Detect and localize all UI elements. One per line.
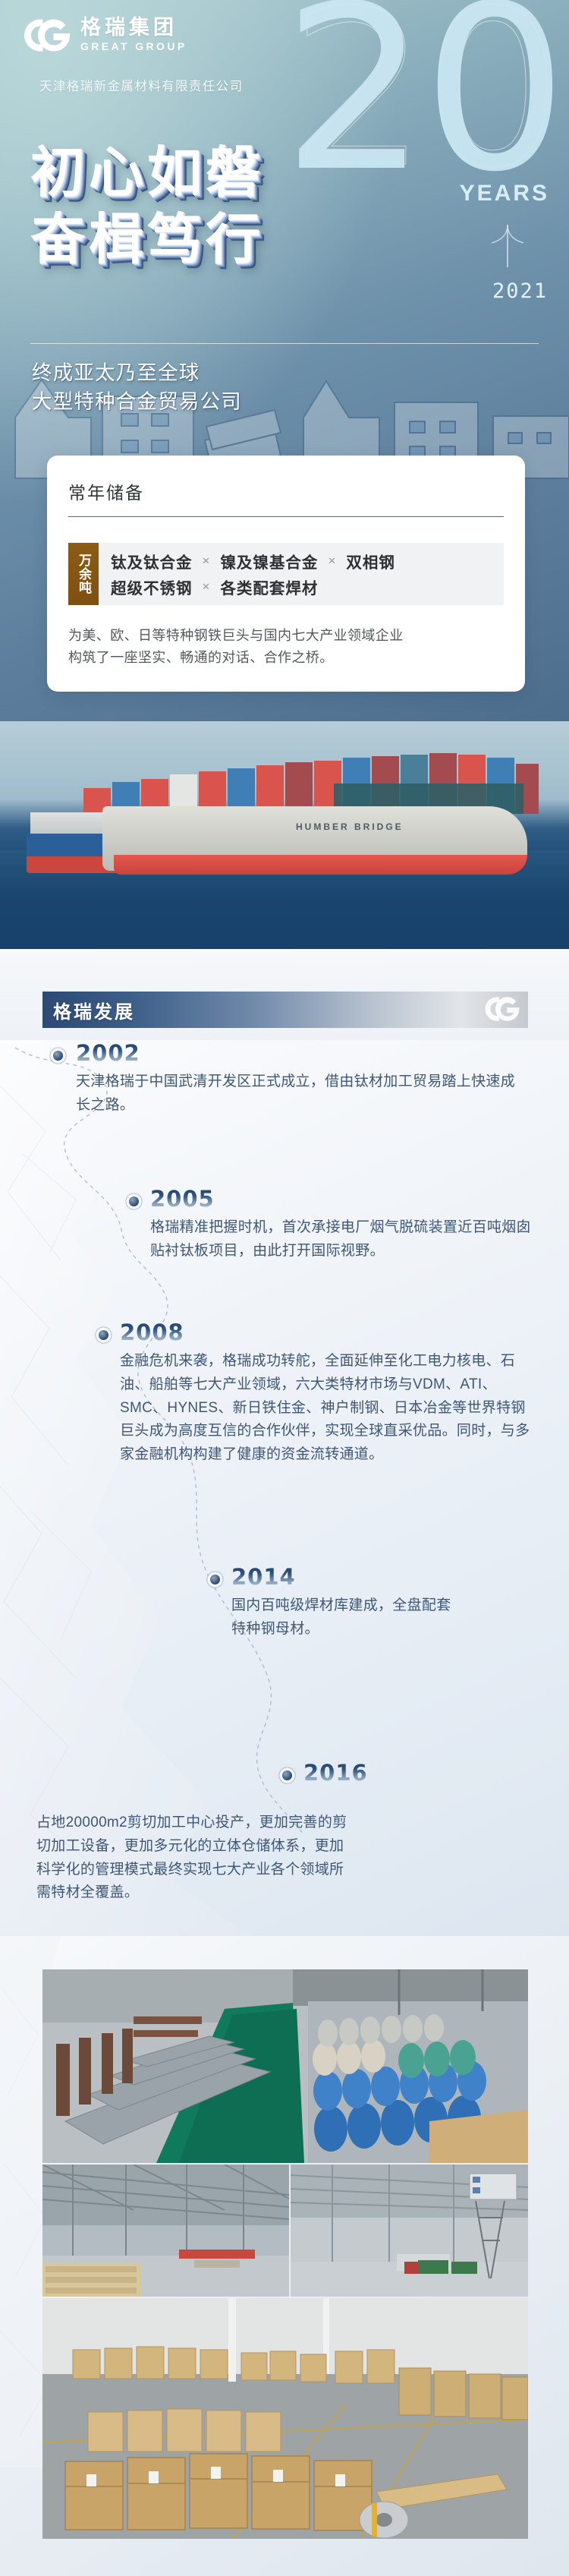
separator-icon: × [328, 553, 336, 569]
timeline-description: 格瑞精准把握时机，首次承接电厂烟气脱硫装置近百吨烟囱贴衬钛板项目，由此打开国际视… [150, 1216, 536, 1263]
reserve-card-title: 常年储备 [68, 478, 504, 516]
section-title-bar: 格瑞发展 [42, 992, 528, 1028]
ship-photo: HUMBER BRIDGE [0, 721, 569, 949]
timeline-year: 2016 [303, 1760, 531, 1786]
company-full-name: 天津格瑞新金属材料有限责任公司 [39, 76, 244, 94]
anniversary-years-label: YEARS [460, 181, 549, 207]
hero-divider [30, 343, 539, 344]
cg-logo-icon [484, 996, 520, 1022]
timeline-dot-icon [282, 1770, 292, 1780]
gallery-photo [42, 2165, 289, 2297]
tugboat-superstructure [30, 812, 102, 835]
anniversary-number: 20 [282, 0, 563, 203]
timeline-item: 2002 天津格瑞于中国武清开发区正式成立，借由钛材加工贸易踏上快速成长之路。 [76, 1040, 531, 1118]
timeline-dot-icon [210, 1575, 220, 1584]
factory-hall-with-machinery-image [291, 2165, 528, 2297]
material-item: 钛及钛合金 [111, 550, 193, 572]
material-item: 超级不锈钢 [111, 575, 193, 598]
timeline-dot-icon [99, 1330, 108, 1340]
reserve-card: 常年储备 万余吨 钛及钛合金 × 镍及镍基合金 × 双相钢 超级不锈钢 [47, 456, 525, 692]
wooden-crates-storage-warehouse-image [42, 2298, 528, 2539]
timeline-description: 金融危机来袭，格瑞成功转舵，全面延伸至化工电力核电、石油、船舶等七大产业领域，六… [120, 1350, 534, 1467]
container-stack-icon [83, 753, 539, 814]
reserve-card-divider [68, 516, 504, 517]
workshop-interior-steel-structure-image [42, 2165, 289, 2297]
separator-icon: × [203, 553, 211, 569]
material-chip-row: 万余吨 钛及钛合金 × 镍及镍基合金 × 双相钢 超级不锈钢 × 各类配套焊材 [68, 543, 504, 605]
separator-icon: × [203, 579, 211, 594]
hero-subtitle-line-2: 大型特种合金贸易公司 [32, 387, 242, 416]
ship-hull-waterline [114, 855, 527, 875]
timeline-year: 2005 [150, 1186, 537, 1212]
warehouse-steel-plates-and-coils-image [42, 1969, 528, 2163]
vessel-name: HUMBER BRIDGE [296, 821, 404, 832]
timeline-description: 占地20000m2剪切加工中心投产，更加完善的剪切加工设备，更加多元化的立体仓储… [36, 1811, 355, 1905]
brand-name-cn: 格瑞集团 [80, 17, 187, 38]
brand-name-en: GREAT GROUP [80, 39, 187, 53]
material-line-2: 超级不锈钢 × 各类配套焊材 [111, 575, 395, 598]
photo-gallery [0, 1936, 569, 2576]
headline-line-2: 奋楫笃行 [30, 207, 264, 274]
hero-headline: 初心如磐 奋楫笃行 [30, 140, 264, 274]
timeline-description: 国内百吨级焊材库建成，全盘配套特种钢母材。 [231, 1594, 459, 1641]
timeline-year: 2014 [231, 1564, 505, 1590]
gallery-photo [42, 1969, 528, 2163]
timeline-year: 2008 [120, 1320, 536, 1345]
material-item: 镍及镍基合金 [220, 550, 318, 572]
anniversary-year: 2021 [492, 279, 548, 303]
timeline-year: 2002 [76, 1040, 531, 1066]
reserve-note-line-2: 构筑了一座坚实、畅通的对话、合作之桥。 [68, 647, 504, 669]
material-item: 各类配套焊材 [220, 575, 318, 598]
reserve-card-note: 为美、欧、日等特种钢铁巨头与国内七大产业领域企业 构筑了一座坚实、畅通的对话、合… [68, 625, 504, 669]
timeline-dot-icon [129, 1197, 139, 1206]
headline-line-1: 初心如磐 [30, 140, 264, 207]
cg-logo-icon [23, 18, 71, 52]
brand-logo: 格瑞集团 GREAT GROUP [23, 17, 187, 54]
timeline-item: 2016 [303, 1760, 531, 1786]
timeline-item: 2014 国内百吨级焊材库建成，全盘配套特种钢母材。 [231, 1564, 505, 1641]
gallery-photo [291, 2165, 528, 2297]
section-header: 格瑞发展 [0, 949, 569, 1040]
gallery-photo [42, 2298, 528, 2539]
material-line-1: 钛及钛合金 × 镍及镍基合金 × 双相钢 [111, 550, 395, 572]
section-title: 格瑞发展 [53, 997, 135, 1023]
timeline-description: 天津格瑞于中国武清开发区正式成立，借由钛材加工贸易踏上快速成长之路。 [76, 1070, 530, 1118]
hero-subtitle-line-1: 终成亚太乃至全球 [32, 358, 242, 387]
material-lines: 钛及钛合金 × 镍及镍基合金 × 双相钢 超级不锈钢 × 各类配套焊材 [99, 543, 395, 605]
tonnage-badge-label: 万余吨 [76, 553, 91, 594]
material-item: 双相钢 [346, 550, 395, 572]
hero-subtitle: 终成亚太乃至全球 大型特种合金贸易公司 [32, 358, 242, 417]
development-section: 格瑞发展 2002 天津格瑞于中国武清开发区正式成立，借由钛材加工贸易踏上快速成… [0, 949, 569, 1936]
timeline-item: 2008 金融危机来袭，格瑞成功转舵，全面延伸至化工电力核电、石油、船舶等七大产… [120, 1320, 536, 1467]
page-root: 20 20 YEARS 2021 格瑞集团 GREAT GROUP 天津格瑞新金… [0, 0, 569, 2576]
timeline-item: 2005 格瑞精准把握时机，首次承接电厂烟气脱硫装置近百吨烟囱贴衬钛板项目，由此… [150, 1186, 537, 1263]
mountain-texture-background [0, 1040, 372, 1936]
hero-section: 20 20 YEARS 2021 格瑞集团 GREAT GROUP 天津格瑞新金… [0, 0, 569, 721]
tonnage-badge: 万余吨 [68, 543, 99, 605]
reserve-note-line-1: 为美、欧、日等特种钢铁巨头与国内七大产业领域企业 [68, 625, 504, 647]
up-arrow-icon [490, 222, 525, 269]
timeline-dot-icon [53, 1051, 63, 1061]
